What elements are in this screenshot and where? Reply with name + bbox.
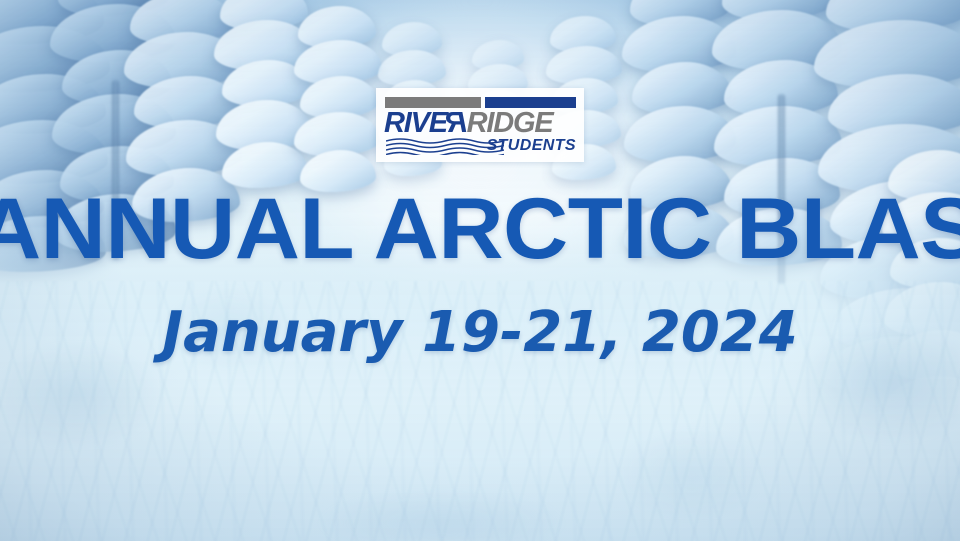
logo-river-text: RIVE	[384, 107, 447, 139]
logo-word-ridge: RIDGE	[467, 109, 553, 138]
logo-word-river: RIVER	[384, 109, 467, 138]
event-poster: RIVERRIDGE STUDENTS ANNUAL ARCTIC BLAST …	[0, 0, 960, 541]
logo-wordmark: RIVERRIDGE	[384, 108, 578, 138]
event-date: January 19-21, 2024	[0, 305, 960, 361]
logo-students-text: STUDENTS	[487, 138, 576, 154]
page-title: ANNUAL ARCTIC BLAST	[0, 186, 960, 272]
logo-reversed-r: R	[447, 109, 467, 138]
river-ridge-students-logo: RIVERRIDGE STUDENTS	[376, 88, 584, 162]
